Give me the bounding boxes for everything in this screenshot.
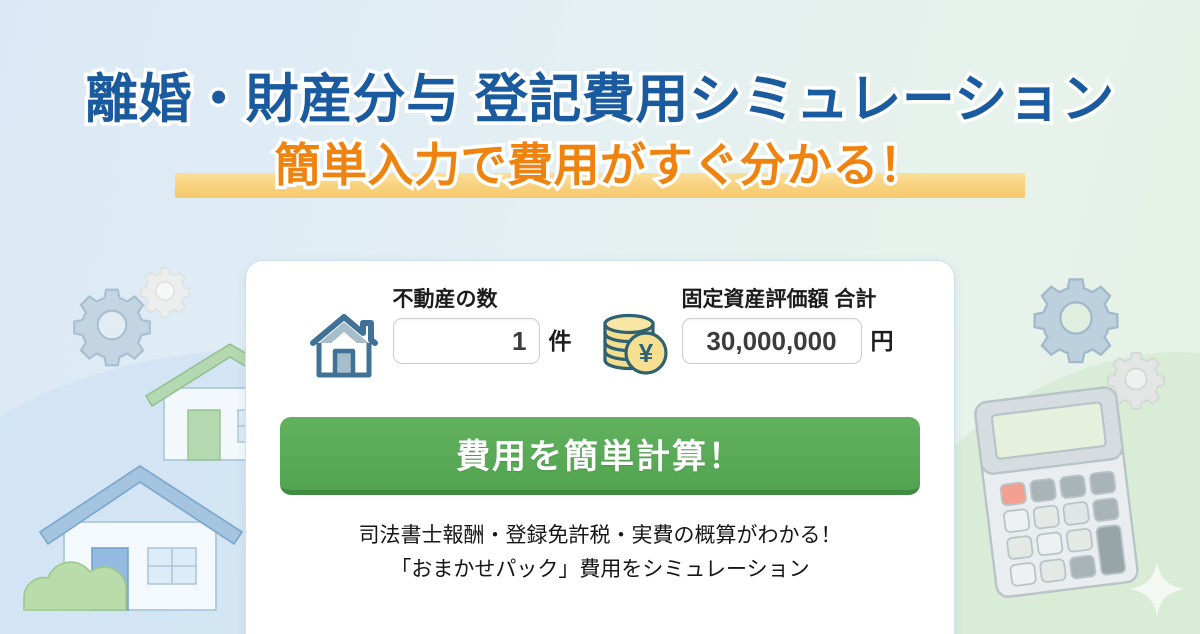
gear-icon	[1030, 272, 1122, 364]
property-count-field-group: 不動産の数 件	[307, 289, 572, 383]
property-count-label: 不動産の数	[393, 289, 572, 310]
coin-stack-yen-icon: ¥	[598, 303, 670, 379]
valuation-input[interactable]	[682, 318, 862, 364]
house-illustration	[30, 450, 250, 620]
gear-icon	[138, 264, 192, 318]
note-line-1: 司法書士報酬・登録免許税・実費の概算がわかる！	[280, 519, 920, 553]
svg-text:¥: ¥	[638, 338, 653, 368]
gear-icon	[1105, 348, 1167, 410]
card-notes: 司法書士報酬・登録免許税・実費の概算がわかる！ 「おまかせパック」費用をシミュレ…	[280, 519, 920, 587]
note-line-2: 「おまかせパック」費用をシミュレーション	[280, 553, 920, 587]
property-count-unit: 件	[549, 330, 572, 353]
house-icon	[307, 307, 381, 383]
input-fields-row: 不動産の数 件	[280, 289, 920, 383]
simulator-card: 不動産の数 件	[245, 260, 955, 634]
valuation-body: 固定資産評価額 合計 円	[682, 289, 894, 364]
sparkle-icon	[1128, 560, 1186, 618]
property-count-input[interactable]	[393, 318, 540, 364]
hero-banner: 離婚・財産分与 登記費用シミュレーション 簡単入力で費用がすぐ分かる！ 不動産の…	[0, 0, 1200, 634]
property-count-input-line: 件	[393, 318, 572, 364]
right-hill-shape	[930, 300, 1200, 634]
calculator-illustration	[958, 382, 1158, 612]
valuation-input-line: 円	[682, 318, 894, 364]
valuation-field-group: ¥ 固定資産評価額 合計 円	[598, 289, 894, 379]
property-count-body: 不動産の数 件	[393, 289, 572, 364]
valuation-label: 固定資産評価額 合計	[682, 289, 894, 310]
hero-headline: 離婚・財産分与 登記費用シミュレーション 簡単入力で費用がすぐ分かる！	[0, 0, 1200, 206]
page-title: 離婚・財産分与 登記費用シミュレーション	[0, 72, 1200, 128]
hero-subtitle-row: 簡単入力で費用がすぐ分かる！	[0, 140, 1200, 206]
page-subtitle: 簡単入力で費用がすぐ分かる！	[0, 140, 1200, 191]
valuation-unit: 円	[871, 330, 894, 353]
gear-icon	[70, 283, 154, 367]
bush-illustration	[20, 552, 140, 614]
calculate-button[interactable]: 費用を簡単計算！	[280, 417, 920, 495]
